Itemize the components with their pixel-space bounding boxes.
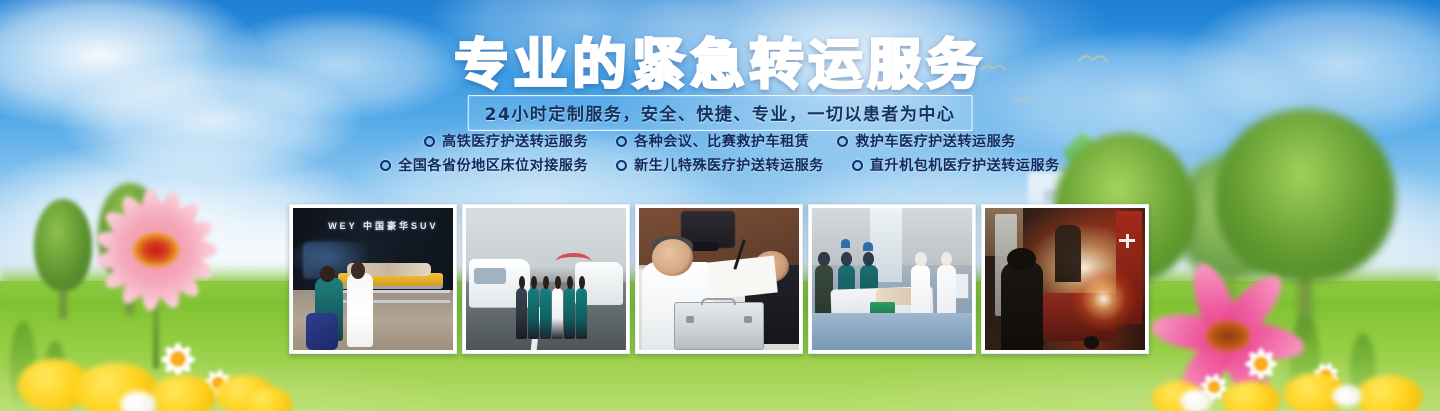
case-latch [744, 316, 752, 323]
billboard-brand-text: WEY 中国豪华SUV [328, 219, 438, 232]
feature-label: 高铁医疗护送转运服务 [442, 131, 588, 151]
banner-content: 专业的紧急转运服务 24小时定制服务，安全、快捷、专业，一切以患者为中心 高铁医… [0, 0, 1440, 411]
photo-stretcher-transfer[interactable]: WEY 中国豪华SUV [289, 204, 457, 354]
paper-document [708, 256, 779, 300]
team-member-doctor [552, 288, 563, 339]
team-member [564, 288, 575, 339]
feature-label: 各种会议、比赛救护车租赁 [634, 131, 809, 151]
blue-bedding [812, 313, 972, 350]
feature-item-xinshenger[interactable]: 新生儿特殊医疗护送转运服务 [616, 155, 824, 175]
feature-list: 高铁医疗护送转运服务 各种会议、比赛救护车租赁 救护车医疗护送转运服务 全国各省… [0, 131, 1440, 179]
surgical-cap [841, 239, 851, 248]
staff-head [351, 262, 365, 279]
medical-staff-white [347, 273, 373, 347]
feature-row-2: 全国各省份地区床位对接服务 新生儿特殊医疗护送转运服务 直升机包机医疗护送转运服… [0, 155, 1440, 175]
medic-loading-patient [1001, 262, 1043, 350]
case-handle [701, 298, 736, 304]
staff-head [320, 266, 334, 282]
surgical-cap [863, 242, 873, 251]
feature-label: 新生儿特殊医疗护送转运服务 [634, 155, 824, 175]
circle-ring-icon [424, 136, 435, 147]
circle-ring-icon [616, 136, 627, 147]
equipment-bag [306, 313, 338, 350]
team-member [576, 288, 587, 339]
feature-item-chuangwei[interactable]: 全国各省份地区床位对接服务 [380, 155, 588, 175]
feature-item-jiuhuche[interactable]: 救护车医疗护送转运服务 [837, 131, 1016, 151]
feature-item-huiyi-zulin[interactable]: 各种会议、比赛救护车租赁 [616, 131, 809, 151]
feature-label: 救护车医疗护送转运服务 [855, 131, 1016, 151]
feature-row-1: 高铁医疗护送转运服务 各种会议、比赛救护车租赁 救护车医疗护送转运服务 [0, 131, 1440, 151]
photo-night-ambulance[interactable] [981, 204, 1149, 354]
circle-ring-icon [380, 160, 391, 171]
feature-item-zhishengji[interactable]: 直升机包机医疗护送转运服务 [852, 155, 1060, 175]
circle-ring-icon [852, 160, 863, 171]
page-title-wrapper: 专业的紧急转运服务 [0, 36, 1440, 94]
medical-equipment-case [674, 302, 764, 350]
photo-gallery: WEY 中国豪华SUV [289, 204, 1149, 354]
team-member [540, 288, 551, 339]
subtitle-text: 24小时定制服务，安全、快捷、专业，一切以患者为中心 [485, 100, 956, 125]
feature-item-gaotie[interactable]: 高铁医疗护送转运服务 [424, 131, 588, 151]
feature-label: 直升机包机医疗护送转运服务 [870, 155, 1060, 175]
gurney-wheel [1084, 336, 1098, 349]
overcast-sky [466, 208, 626, 265]
subtitle-box: 24小时定制服务，安全、快捷、专业，一切以患者为中心 [468, 95, 973, 131]
page-title: 专业的紧急转运服务 [455, 36, 986, 94]
team-member [528, 288, 539, 339]
circle-ring-icon [616, 160, 627, 171]
circle-ring-icon [837, 136, 848, 147]
case-latch [686, 316, 694, 323]
medical-cross-icon [1119, 234, 1135, 248]
banner-root: 专业的紧急转运服务 24小时定制服务，安全、快捷、专业，一切以患者为中心 高铁医… [0, 0, 1440, 411]
feature-label: 全国各省份地区床位对接服务 [398, 155, 588, 175]
photo-hospital-ward[interactable] [808, 204, 976, 354]
light-flare [1068, 268, 1138, 330]
team-member [516, 288, 527, 339]
photo-doctor-consultation[interactable] [635, 204, 803, 354]
photo-ambulance-team[interactable] [462, 204, 630, 354]
